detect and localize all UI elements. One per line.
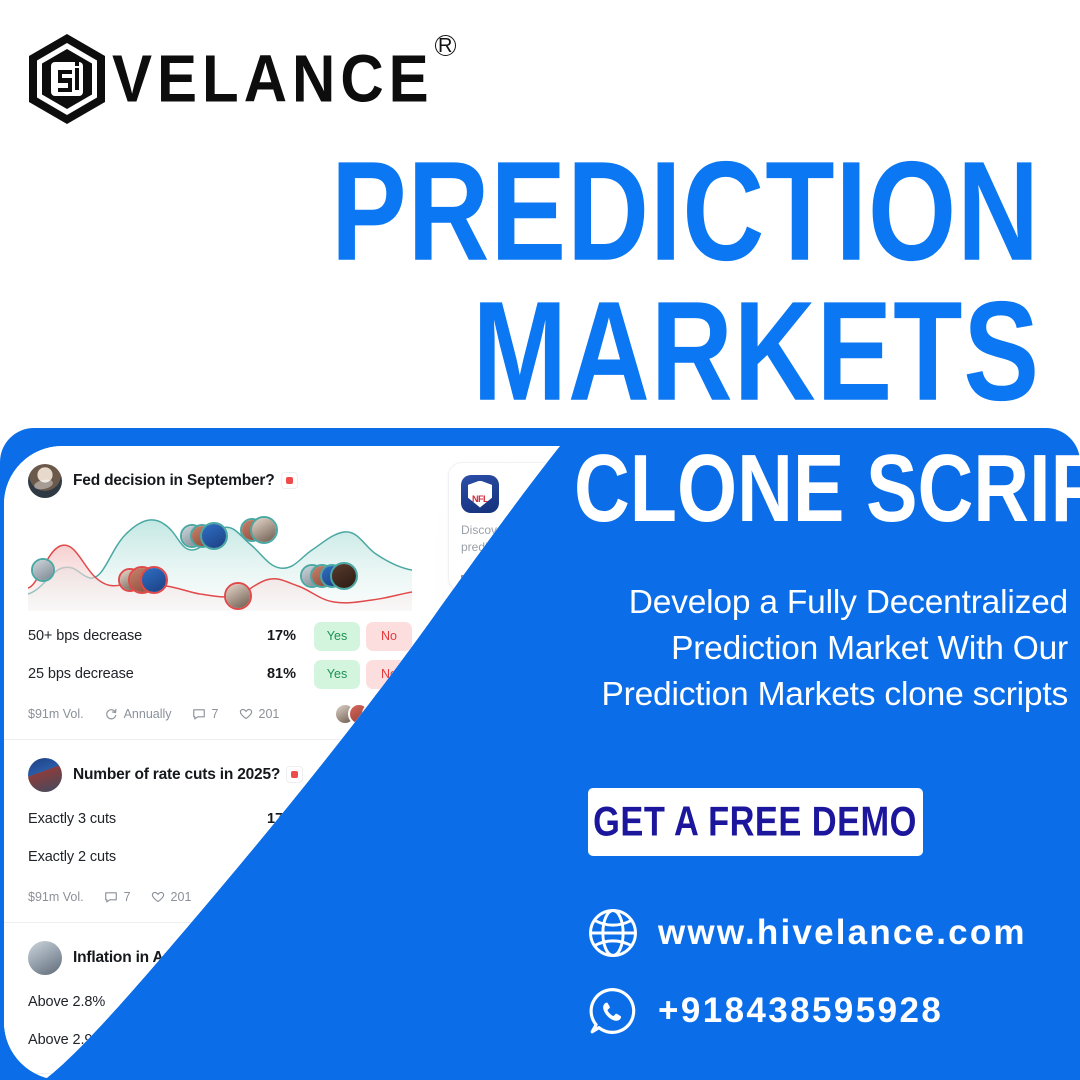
brand-logo[interactable]: VELANCE R (26, 32, 434, 126)
headline-line-1: PREDICTION (184, 143, 1040, 280)
market-card[interactable]: Fed decision in September? (4, 446, 436, 740)
brand-name: VELANCE (112, 45, 434, 112)
refresh-icon (104, 707, 118, 721)
area-chart-svg (28, 506, 412, 611)
volume-stat: $91m Vol. (28, 890, 84, 904)
option-percentage: 17% (267, 628, 296, 644)
market-badge-icon (281, 472, 298, 489)
option-label: 25 bps decrease (28, 666, 267, 682)
frequency-stat: Annually (104, 707, 172, 721)
registered-trademark-icon: R (435, 35, 456, 56)
market-title: Fed decision in September? (73, 472, 298, 490)
hexagon-mark-icon (26, 32, 108, 126)
vote-yes-button[interactable]: Yes (314, 660, 360, 689)
likes-stat: 201 (151, 890, 192, 904)
comments-stat: 7 (104, 890, 131, 904)
headline-line-2: MARKETS (184, 283, 1040, 420)
option-label: Exactly 3 cuts (28, 811, 267, 827)
page-title: PREDICTION MARKETS (120, 152, 1040, 411)
option-label: Exactly 2 cuts (28, 849, 267, 865)
avatar (28, 758, 62, 792)
option-label: 50+ bps decrease (28, 628, 267, 644)
market-option-row[interactable]: 50+ bps decrease 17% Yes No (28, 617, 412, 655)
avatar (28, 941, 62, 975)
poster-canvas: VELANCE R PREDICTION MARKETS CLONE SCRIP… (0, 0, 1080, 1080)
comment-icon (192, 707, 206, 721)
website-url: www.hivelance.com (658, 913, 1027, 953)
vote-no-button[interactable]: No (366, 622, 412, 651)
heart-icon (239, 707, 253, 721)
volume-stat: $91m Vol. (28, 707, 84, 721)
market-chart (28, 506, 412, 611)
vote-yes-button[interactable]: Yes (314, 622, 360, 651)
market-card-header: Fed decision in September? (28, 464, 412, 498)
website-contact-row[interactable]: www.hivelance.com (586, 906, 1027, 960)
whatsapp-icon (586, 984, 640, 1038)
comment-icon (104, 890, 118, 904)
promo-subtitle: Develop a Fully Decentralized Prediction… (568, 580, 1068, 718)
phone-contact-row[interactable]: +918438595928 (586, 984, 943, 1038)
get-a-free-demo-button[interactable]: GET A FREE DEMO (588, 788, 923, 856)
market-card-footer: $91m Vol. Annually 7 (28, 703, 412, 725)
globe-icon (586, 906, 640, 960)
option-percentage: 81% (267, 666, 296, 682)
market-option-row[interactable]: 25 bps decrease 81% Yes No (28, 655, 412, 693)
cta-label: GET A FREE DEMO (594, 798, 918, 845)
market-title: Number of rate cuts in 2025? (73, 766, 303, 784)
market-badge-icon (286, 766, 303, 783)
avatar (28, 464, 62, 498)
promo-panel-content: CLONE SCRIPT Develop a Fully Decentraliz… (568, 428, 1080, 1080)
phone-number: +918438595928 (658, 991, 943, 1031)
likes-stat: 201 (239, 707, 280, 721)
heart-icon (151, 890, 165, 904)
comments-stat: 7 (192, 707, 219, 721)
nfl-logo-icon: NFL (461, 475, 499, 513)
promo-title: CLONE SCRIPT (574, 440, 1016, 536)
